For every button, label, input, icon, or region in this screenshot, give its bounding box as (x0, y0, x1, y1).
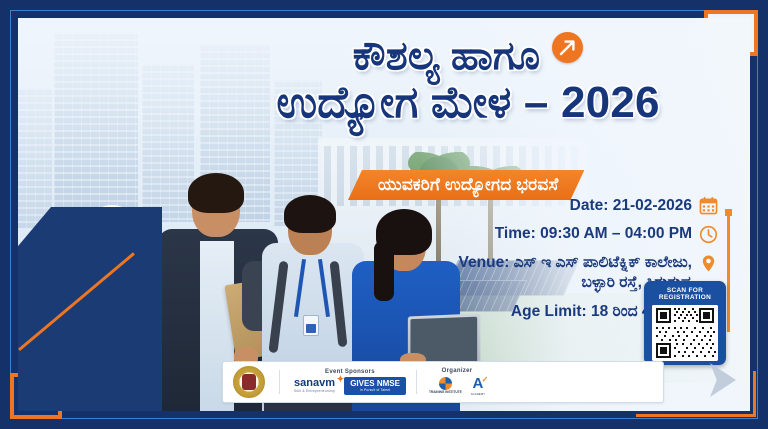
logo-sanavm: sanavm✦ Skill & Entrepreneurship (294, 378, 335, 393)
location-pin-icon (699, 254, 718, 273)
event-sponsors-group: Event Sponsors sanavm✦ Skill & Entrepren… (294, 369, 406, 395)
page-title-line2: ಉದ್ಯೋಗ ಮೇಳ – 2026 (208, 81, 728, 126)
divider (279, 370, 280, 394)
logo-sanavm-sub: Skill & Entrepreneurship (294, 390, 335, 393)
person-hair (188, 173, 244, 213)
qr-caption: SCAN FOR REGISTRATION (648, 285, 722, 305)
qr-caption-line2: REGISTRATION (659, 294, 711, 301)
detail-row-time: Time: 09:30 AM – 04:00 PM (418, 224, 718, 243)
title-text-line1: ಕೌಶಲ್ಯ ಹಾಗೂ (353, 34, 541, 78)
qr-registration-card[interactable]: SCAN FOR REGISTRATION (644, 281, 726, 365)
person-hair (284, 195, 336, 233)
organizer-group: Organizer TRAINING INSTITUTE A✓ ACADEMY (429, 368, 485, 396)
logo-gives-text: GIVES NMSE (350, 379, 400, 388)
government-emblem-icon (233, 366, 265, 398)
tagline-text: ಯುವಕರಿಗೆ ಉದ್ಯೋಗದ ಭರವಸೆ (378, 175, 558, 195)
logo-a-sub: ACADEMY (471, 392, 485, 396)
divider (416, 370, 417, 394)
orange-vertical-rule (727, 214, 730, 332)
poster-root: ಕೌಶಲ್ಯ ಹಾಗೂ ಉದ್ಯೋಗ ಮೇಳ – 2026 ಯುವಕರಿಗೆ ಉ… (0, 0, 768, 429)
sponsor-bar: Event Sponsors sanavm✦ Skill & Entrepren… (222, 361, 664, 403)
event-sponsors-label: Event Sponsors (325, 369, 375, 375)
person-hair-back (374, 241, 394, 301)
clock-icon (699, 225, 718, 244)
id-badge (303, 315, 319, 336)
logo-a-text: A✓ (472, 376, 483, 391)
date-text: Date: 21-02-2026 (570, 196, 692, 215)
swoosh-icon: ✓ (482, 376, 489, 384)
venue-line1: Venue: ಎಸ್ ಇ ಎಸ್ ಪಾಲಿಟೆಕ್ನಿಕ್ ಕಾಲೇಜು, (459, 254, 692, 271)
poster-canvas: ಕೌಶಲ್ಯ ಹಾಗೂ ಉದ್ಯೋಗ ಮೇಳ – 2026 ಯುವಕರಿಗೆ ಉ… (18, 18, 750, 411)
star-icon: ✦ (337, 375, 345, 384)
navy-corner-wedge (18, 207, 162, 411)
organizer-logos: TRAINING INSTITUTE A✓ ACADEMY (429, 376, 485, 396)
logo-gives-sub: In Pursuit of Talent (350, 389, 400, 392)
calendar-icon (699, 196, 718, 215)
corner-accent-bottom-right-vertical (753, 371, 756, 417)
event-sponsor-logos: sanavm✦ Skill & Entrepreneurship GIVES N… (294, 377, 406, 395)
qr-caption-line1: SCAN FOR (667, 287, 703, 294)
logo-gives-nmse: GIVES NMSE In Pursuit of Talent (344, 377, 406, 395)
corner-accent-bottom-right (636, 414, 756, 417)
time-text: Time: 09:30 AM – 04:00 PM (495, 224, 692, 243)
arrow-up-right-icon (552, 32, 583, 63)
training-institute-mark-icon (439, 377, 452, 390)
detail-row-date: Date: 21-02-2026 (418, 196, 718, 215)
logo-tti-text: TRAINING INSTITUTE (429, 391, 462, 395)
logo-sanavm-text: sanavm (294, 377, 335, 389)
organizer-label: Organizer (442, 368, 473, 374)
qr-code-icon[interactable] (652, 305, 718, 361)
page-title-line1: ಕೌಶಲ್ಯ ಹಾಗೂ (208, 32, 728, 77)
logo-a-academy: A✓ ACADEMY (471, 376, 485, 396)
title-block: ಕೌಶಲ್ಯ ಹಾಗೂ ಉದ್ಯೋಗ ಮೇಳ – 2026 (208, 32, 728, 126)
logo-training-institute: TRAINING INSTITUTE (429, 377, 462, 395)
